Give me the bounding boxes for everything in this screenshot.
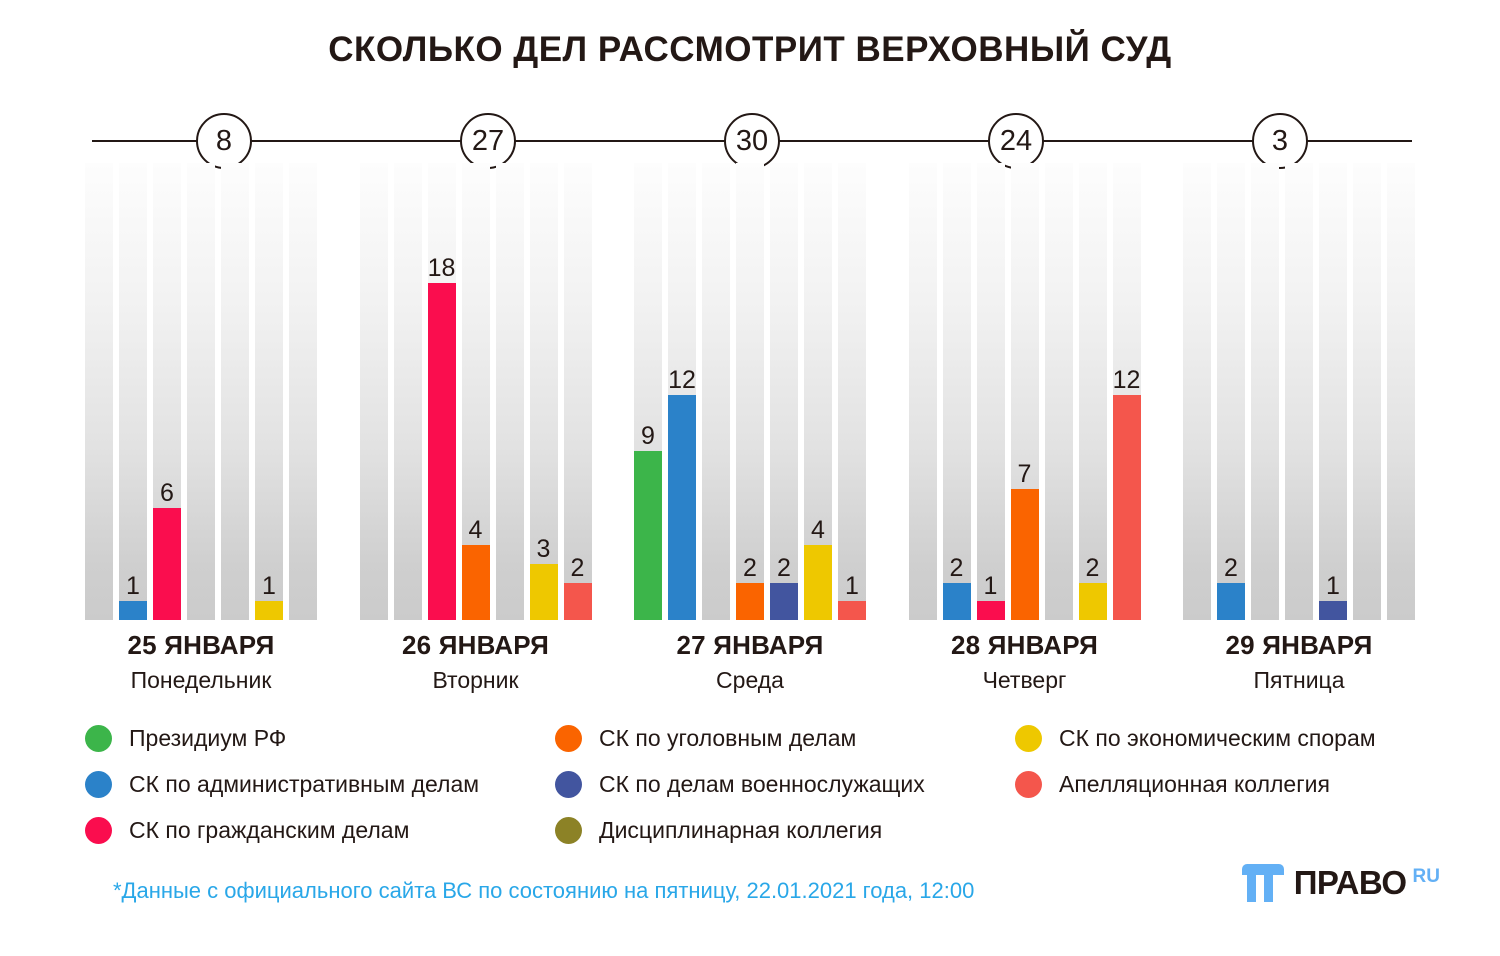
bar: 2: [943, 583, 971, 620]
bar-value-label: 12: [668, 368, 696, 393]
legend-column: СК по экономическим спорамАпелляционная …: [1015, 722, 1445, 846]
bar-slot: 1: [1319, 163, 1347, 620]
day-total-bubble: 24: [988, 113, 1044, 169]
bar: 4: [804, 545, 832, 620]
bar-value-label: 4: [811, 518, 825, 543]
bar-slot: 4: [462, 163, 490, 620]
bar-value-label: 12: [1113, 368, 1141, 393]
bar-slot: 2: [770, 163, 798, 620]
bar-slot: [1285, 163, 1313, 620]
legend-column: СК по уголовным деламСК по делам военнос…: [555, 722, 1015, 846]
legend-label: СК по уголовным делам: [599, 725, 856, 752]
bar-slot: 7: [1011, 163, 1039, 620]
legend-item-appeal[interactable]: Апелляционная коллегия: [1015, 768, 1445, 800]
bar-slot: 1: [977, 163, 1005, 620]
bar-slot: 2: [736, 163, 764, 620]
bar: 7: [1011, 489, 1039, 620]
bar: 2: [1079, 583, 1107, 620]
pravo-logo-mark-icon: [1242, 864, 1284, 902]
bar: 12: [1113, 395, 1141, 620]
bar-slot: [1183, 163, 1211, 620]
bar: 1: [838, 601, 866, 620]
bar-slot: [496, 163, 524, 620]
bar-value-label: 18: [428, 256, 456, 281]
bar-value-label: 2: [1224, 556, 1238, 581]
bar-slot: [1045, 163, 1073, 620]
legend-item-administrative[interactable]: СК по административным делам: [85, 768, 555, 800]
bar-slot: 9: [634, 163, 662, 620]
legend-item-military[interactable]: СК по делам военнослужащих: [555, 768, 1015, 800]
day-date: 27 ЯНВАРЯ: [634, 630, 866, 661]
legend-item-economic[interactable]: СК по экономическим спорам: [1015, 722, 1445, 754]
bar-slot: 12: [1113, 163, 1141, 620]
bar-chart-plot: 16118432912224121721221: [85, 163, 1415, 620]
bar-slot: 2: [1217, 163, 1245, 620]
bar-slot: [221, 163, 249, 620]
day-of-week: Среда: [634, 667, 866, 694]
legend-label: СК по экономическим спорам: [1059, 725, 1376, 752]
bar-slot: 2: [1079, 163, 1107, 620]
legend-label: СК по делам военнослужащих: [599, 771, 925, 798]
day-of-week: Понедельник: [85, 667, 317, 694]
bar-slot: 6: [153, 163, 181, 620]
day-axis-label: 28 ЯНВАРЯЧетверг: [909, 630, 1141, 694]
day-axis-label: 26 ЯНВАРЯВторник: [360, 630, 592, 694]
bar: 6: [153, 508, 181, 620]
day-bar-group: 21: [1183, 163, 1415, 620]
day-of-week: Пятница: [1183, 667, 1415, 694]
bar-slot: [1387, 163, 1415, 620]
legend-color-dot-icon: [85, 725, 112, 752]
bar: 1: [1319, 601, 1347, 620]
bar-slot: [1353, 163, 1381, 620]
day-bar-group: 18432: [360, 163, 592, 620]
page-title: СКОЛЬКО ДЕЛ РАССМОТРИТ ВЕРХОВНЫЙ СУД: [0, 30, 1500, 70]
bar-value-label: 1: [984, 574, 998, 599]
bar-value-label: 2: [950, 556, 964, 581]
bar: 4: [462, 545, 490, 620]
legend-color-dot-icon: [555, 771, 582, 798]
day-bar-group: 9122241: [634, 163, 866, 620]
bar: 2: [564, 583, 592, 620]
bar-value-label: 1: [1326, 574, 1340, 599]
legend-label: СК по административным делам: [129, 771, 479, 798]
bar-value-label: 3: [537, 537, 551, 562]
legend-label: СК по гражданским делам: [129, 817, 409, 844]
legend-label: Апелляционная коллегия: [1059, 771, 1330, 798]
bar-slot: [289, 163, 317, 620]
bar-slot: 4: [804, 163, 832, 620]
pravo-ru-logo[interactable]: ПРАВО RU: [1242, 864, 1440, 902]
bar: 2: [736, 583, 764, 620]
bar-value-label: 2: [777, 556, 791, 581]
day-total-bubble: 30: [724, 113, 780, 169]
bar-value-label: 1: [845, 574, 859, 599]
bar-slot: [85, 163, 113, 620]
logo-suffix: RU: [1413, 866, 1440, 888]
legend-color-dot-icon: [555, 725, 582, 752]
bar-slot: [394, 163, 422, 620]
bar-slot: 1: [119, 163, 147, 620]
bar-slot: 12: [668, 163, 696, 620]
day-date: 28 ЯНВАРЯ: [909, 630, 1141, 661]
day-axis-label: 27 ЯНВАРЯСреда: [634, 630, 866, 694]
bar-slot: 1: [255, 163, 283, 620]
bar-slot: 3: [530, 163, 558, 620]
day-of-week: Четверг: [909, 667, 1141, 694]
bar: 12: [668, 395, 696, 620]
bar-slot: [1251, 163, 1279, 620]
legend-column: Президиум РФСК по административным делам…: [85, 722, 555, 846]
day-date: 29 ЯНВАРЯ: [1183, 630, 1415, 661]
day-total-bubble: 8: [196, 113, 252, 169]
day-date: 25 ЯНВАРЯ: [85, 630, 317, 661]
bar-value-label: 9: [641, 424, 655, 449]
day-axis-labels: 25 ЯНВАРЯПонедельник26 ЯНВАРЯВторник27 Я…: [85, 630, 1415, 694]
bar-value-label: 1: [126, 574, 140, 599]
logo-wordmark: ПРАВО: [1294, 864, 1407, 902]
bar-value-label: 6: [160, 481, 174, 506]
legend-item-presidium[interactable]: Президиум РФ: [85, 722, 555, 754]
day-date: 26 ЯНВАРЯ: [360, 630, 592, 661]
legend-color-dot-icon: [85, 771, 112, 798]
bar-slot: [187, 163, 215, 620]
bar: 1: [255, 601, 283, 620]
day-bar-group: 161: [85, 163, 317, 620]
legend-item-civil[interactable]: СК по гражданским делам: [85, 814, 555, 846]
bar-value-label: 4: [469, 518, 483, 543]
bar-value-label: 2: [743, 556, 757, 581]
bar: 1: [119, 601, 147, 620]
source-footnote: *Данные с официального сайта ВС по состо…: [113, 878, 974, 904]
bar-value-label: 7: [1018, 462, 1032, 487]
bar: 9: [634, 451, 662, 620]
bar-slot: 2: [943, 163, 971, 620]
bar-value-label: 1: [262, 574, 276, 599]
bar: 2: [770, 583, 798, 620]
day-bar-group: 217212: [909, 163, 1141, 620]
legend-item-criminal[interactable]: СК по уголовным делам: [555, 722, 1015, 754]
legend-label: Президиум РФ: [129, 725, 286, 752]
day-axis-label: 29 ЯНВАРЯПятница: [1183, 630, 1415, 694]
bar-slot: 2: [564, 163, 592, 620]
bar-value-label: 2: [1086, 556, 1100, 581]
day-axis-label: 25 ЯНВАРЯПонедельник: [85, 630, 317, 694]
bar-slot: [909, 163, 937, 620]
bar: 2: [1217, 583, 1245, 620]
day-total-bubble: 3: [1252, 113, 1308, 169]
bar-slot: [702, 163, 730, 620]
bar-slot: 1: [838, 163, 866, 620]
bar: 3: [530, 564, 558, 620]
legend-color-dot-icon: [555, 817, 582, 844]
day-of-week: Вторник: [360, 667, 592, 694]
infographic-page: СКОЛЬКО ДЕЛ РАССМОТРИТ ВЕРХОВНЫЙ СУД 827…: [0, 0, 1500, 956]
legend-color-dot-icon: [1015, 725, 1042, 752]
day-total-bubble: 27: [460, 113, 516, 169]
legend-color-dot-icon: [1015, 771, 1042, 798]
bar: 18: [428, 283, 456, 620]
chart-legend: Президиум РФСК по административным делам…: [85, 722, 1445, 846]
legend-label: Дисциплинарная коллегия: [599, 817, 882, 844]
bar-value-label: 2: [571, 556, 585, 581]
bar-slot: 18: [428, 163, 456, 620]
legend-item-disciplinary[interactable]: Дисциплинарная коллегия: [555, 814, 1015, 846]
bar: 1: [977, 601, 1005, 620]
legend-color-dot-icon: [85, 817, 112, 844]
bar-slot: [360, 163, 388, 620]
